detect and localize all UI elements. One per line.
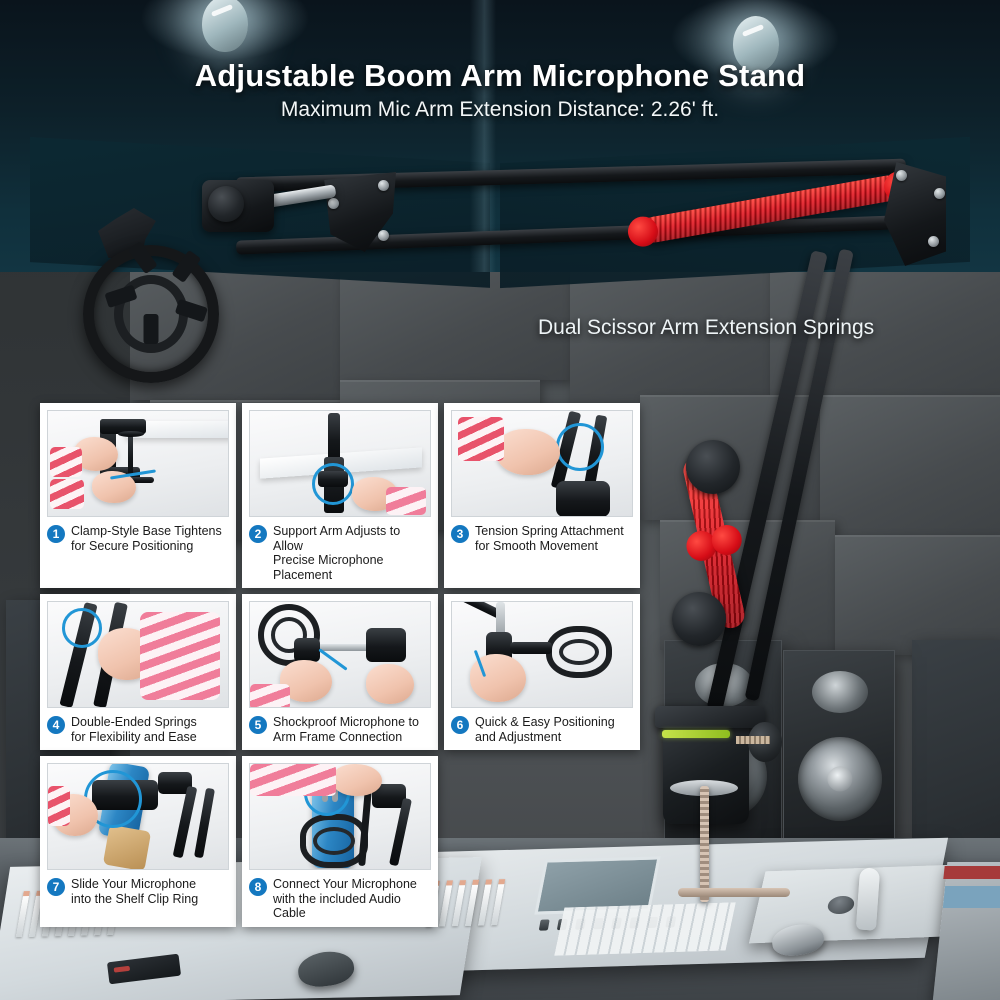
- feature-thumbnail-6: [451, 601, 633, 708]
- feature-caption-6: 6Quick & Easy Positioningand Adjustment: [451, 715, 633, 744]
- feature-thumbnail-4: [47, 601, 229, 708]
- feature-number-badge: 8: [249, 878, 267, 896]
- feature-card-7[interactable]: 7Slide Your Microphoneinto the Shelf Cli…: [40, 756, 236, 927]
- feature-text-line1: Double-Ended Springs: [71, 715, 197, 729]
- feature-text: Quick & Easy Positioningand Adjustment: [475, 715, 615, 744]
- feature-thumbnail-5: [249, 601, 431, 708]
- feature-text: Shockproof Microphone toArm Frame Connec…: [273, 715, 419, 744]
- page-subtitle: Maximum Mic Arm Extension Distance: 2.26…: [0, 98, 1000, 122]
- shock-mount-ring: [83, 245, 219, 383]
- feature-text-line1: Slide Your Microphone: [71, 877, 196, 891]
- feature-caption-1: 1Clamp-Style Base Tightensfor Secure Pos…: [47, 524, 229, 553]
- feature-text-line2: for Smooth Movement: [475, 539, 598, 553]
- spring-hub-bottom: [672, 592, 726, 646]
- feature-caption-7: 7Slide Your Microphoneinto the Shelf Cli…: [47, 877, 229, 906]
- feature-number-badge: 1: [47, 525, 65, 543]
- feature-number-badge: 4: [47, 716, 65, 734]
- feature-text: Double-Ended Springsfor Flexibility and …: [71, 715, 197, 744]
- spring-callout-label: Dual Scissor Arm Extension Springs: [538, 316, 874, 340]
- feature-number-badge: 5: [249, 716, 267, 734]
- product-infographic: Adjustable Boom Arm Microphone Stand Max…: [0, 0, 1000, 1000]
- feature-text: Tension Spring Attachmentfor Smooth Move…: [475, 524, 624, 553]
- feature-text: Slide Your Microphoneinto the Shelf Clip…: [71, 877, 198, 906]
- studio-monitor-right: [783, 650, 895, 842]
- feature-card-1[interactable]: 1Clamp-Style Base Tightensfor Secure Pos…: [40, 403, 236, 588]
- feature-text: Connect Your Microphonewith the included…: [273, 877, 431, 921]
- mount-pivot-hub: [208, 186, 244, 222]
- feature-card-3[interactable]: 3Tension Spring Attachmentfor Smooth Mov…: [444, 403, 640, 588]
- foam-block: [835, 535, 1000, 655]
- feature-text-line1: Shockproof Microphone to: [273, 715, 419, 729]
- feature-text-line1: Quick & Easy Positioning: [475, 715, 615, 729]
- feature-text-line2: Arm Frame Connection: [273, 730, 402, 744]
- feature-thumbnail-7: [47, 763, 229, 870]
- feature-text-line1: Tension Spring Attachment: [475, 524, 624, 538]
- feature-thumbnail-3: [451, 410, 633, 517]
- clamp-handle-bar: [678, 888, 790, 897]
- feature-text-line2: for Flexibility and Ease: [71, 730, 197, 744]
- rack-unit-red: [943, 866, 1000, 879]
- feature-text-line2: into the Shelf Clip Ring: [71, 892, 198, 906]
- feature-caption-5: 5Shockproof Microphone toArm Frame Conne…: [249, 715, 431, 744]
- feature-caption-2: 2Support Arm Adjusts to AllowPrecise Mic…: [249, 524, 431, 582]
- feature-text-line1: Connect Your Microphone: [273, 877, 417, 891]
- feature-card-8[interactable]: 8Connect Your Microphonewith the include…: [242, 756, 438, 927]
- foam-block: [820, 395, 1000, 535]
- feature-text-line1: Support Arm Adjusts to Allow: [273, 524, 400, 553]
- feature-text-line2: with the included Audio Cable: [273, 892, 401, 921]
- feature-grid: 1Clamp-Style Base Tightensfor Secure Pos…: [40, 403, 640, 927]
- feature-thumbnail-1: [47, 410, 229, 517]
- spring-hub-top: [686, 440, 740, 494]
- clamp-screw: [700, 786, 709, 902]
- ceiling-light-icon: [202, 0, 248, 52]
- feature-number-badge: 2: [249, 525, 267, 543]
- clamp-accent-strip: [662, 730, 730, 738]
- feature-caption-4: 4Double-Ended Springsfor Flexibility and…: [47, 715, 229, 744]
- feature-number-badge: 6: [451, 716, 469, 734]
- feature-text-line2: for Secure Positioning: [71, 539, 193, 553]
- feature-text-line2: and Adjustment: [475, 730, 561, 744]
- desk-clamp-jaw: [655, 706, 765, 728]
- feature-card-2[interactable]: 2Support Arm Adjusts to AllowPrecise Mic…: [242, 403, 438, 588]
- feature-card-5[interactable]: 5Shockproof Microphone toArm Frame Conne…: [242, 594, 438, 750]
- feature-number-badge: 3: [451, 525, 469, 543]
- feature-card-6[interactable]: 6Quick & Easy Positioningand Adjustment: [444, 594, 640, 750]
- header-block: Adjustable Boom Arm Microphone Stand Max…: [0, 58, 1000, 122]
- feature-text-line2: Precise Microphone Placement: [273, 553, 383, 582]
- clamp-knob-rod: [736, 736, 770, 744]
- feature-thumbnail-8: [249, 763, 431, 870]
- feature-number-badge: 7: [47, 878, 65, 896]
- page-title: Adjustable Boom Arm Microphone Stand: [0, 58, 1000, 94]
- feature-card-4[interactable]: 4Double-Ended Springsfor Flexibility and…: [40, 594, 236, 750]
- feature-text: Support Arm Adjusts to AllowPrecise Micr…: [273, 524, 431, 582]
- feature-caption-8: 8Connect Your Microphonewith the include…: [249, 877, 431, 921]
- rack-unit-blue: [943, 886, 1000, 908]
- feature-text-line1: Clamp-Style Base Tightens: [71, 524, 222, 538]
- feature-text: Clamp-Style Base Tightensfor Secure Posi…: [71, 524, 222, 553]
- acoustic-panel-right: [912, 640, 1000, 870]
- feature-caption-3: 3Tension Spring Attachmentfor Smooth Mov…: [451, 524, 633, 553]
- feature-thumbnail-2: [249, 410, 431, 517]
